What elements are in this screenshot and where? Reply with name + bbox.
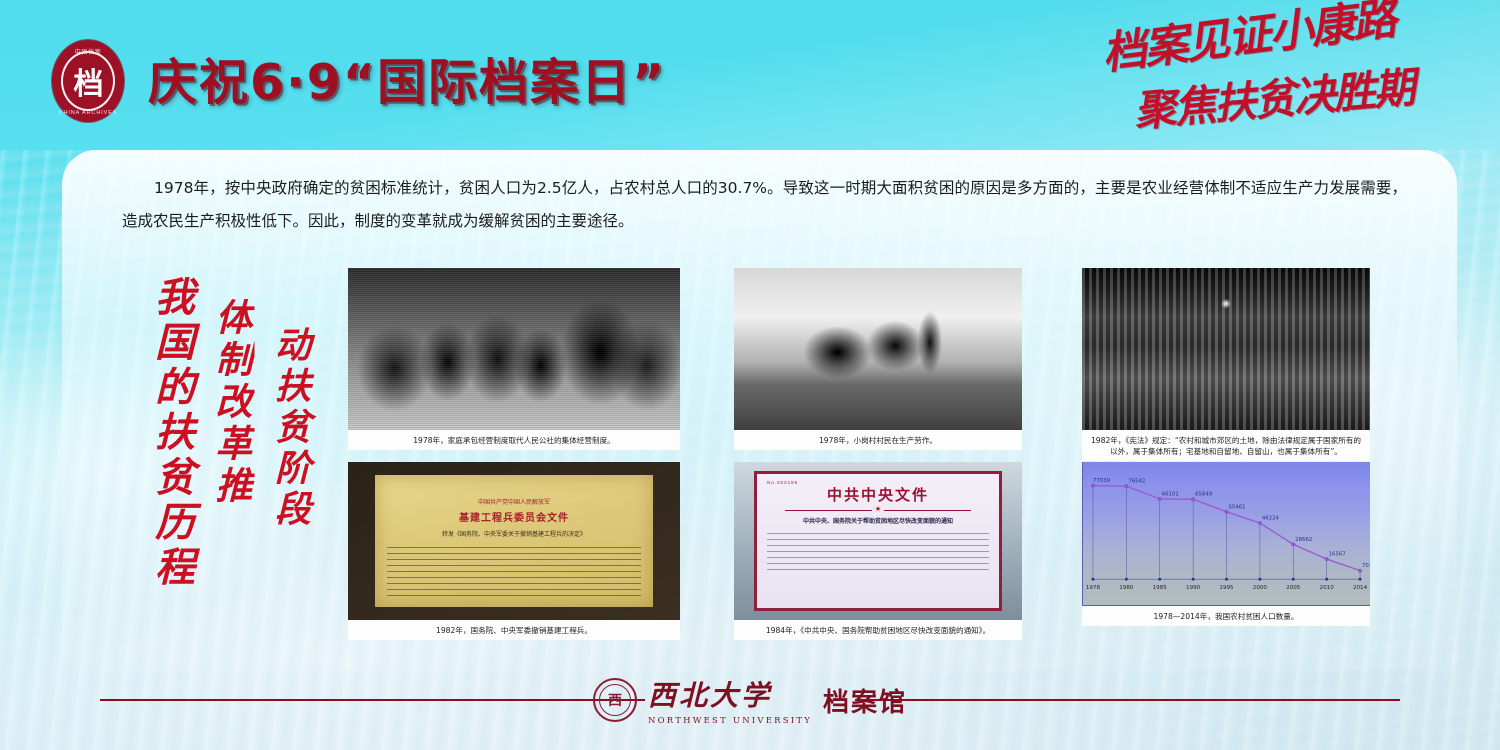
seal-glyph: 西: [593, 678, 637, 722]
emblem-arc-bottom-text: CHINA ARCHIVES: [52, 110, 124, 116]
title-underline: [60, 125, 760, 128]
university-name-block: 西北大学 NORTHWEST UNIVERSITY: [648, 674, 812, 726]
svg-text:1985: 1985: [1153, 585, 1168, 591]
svg-text:66101: 66101: [1162, 491, 1179, 497]
svg-text:28662: 28662: [1295, 537, 1312, 543]
university-name-cn: 西北大学: [648, 674, 812, 714]
svg-text:1990: 1990: [1186, 585, 1201, 591]
photo-caption: 1978年，家庭承包经营制度取代人民公社的集体经营制度。: [348, 430, 680, 450]
svg-text:16567: 16567: [1329, 552, 1346, 558]
photo-card[interactable]: 1982年，《宪法》规定：“农村和城市郊区的土地，除由法律规定属于国家所有的以外…: [1082, 268, 1370, 461]
department-name: 档案馆: [823, 682, 907, 719]
document-line-1: 中国共产党中国人民解放军: [387, 497, 642, 506]
document-body-lines: [767, 533, 989, 575]
photo-cpc-central-document: No 000185 中共中央文件 中共中央、国务院关于帮助贫困地区尽快改变面貌的…: [734, 462, 1022, 620]
svg-text:55461: 55461: [1228, 504, 1245, 510]
calligraphy-slogan: 档案见证小康路 聚焦扶贫决胜期: [1082, 12, 1482, 147]
document-sheet: No 000185 中共中央文件 中共中央、国务院关于帮助贫困地区尽快改变面貌的…: [754, 471, 1002, 610]
footer-brand: 西 西北大学 NORTHWEST UNIVERSITY 档案馆: [593, 674, 907, 726]
photo-caption: 1978年，小岗村村民在生产劳作。: [734, 430, 1022, 450]
content-panel: 1978年，按中央政府确定的贫困标准统计，贫困人口为2.5亿人，占农村总人口的3…: [62, 150, 1457, 670]
photo-card[interactable]: No 000185 中共中央文件 中共中央、国务院关于帮助贫困地区尽快改变面貌的…: [734, 462, 1022, 640]
document-sheet: 中国共产党中国人民解放军 基建工程兵委员会文件 转发《国务院、中央军委关于撤销基…: [375, 475, 654, 608]
photo-caption: 1982年，《宪法》规定：“农村和城市郊区的土地，除由法律规定属于国家所有的以外…: [1082, 430, 1370, 461]
poster-header: 中国档案 档 CHINA ARCHIVES 庆祝6·9“国际档案日” 档案见证小…: [0, 0, 1500, 148]
svg-text:7017: 7017: [1362, 563, 1370, 569]
footer-rule-right: [855, 699, 1400, 701]
photo-card[interactable]: 1978年，家庭承包经营制度取代人民公社的集体经营制度。: [348, 268, 680, 450]
photo-caption: 1984年，《中共中央、国务院帮助贫困地区尽快改变面貌的通知》。: [734, 620, 1022, 640]
svg-text:46224: 46224: [1262, 516, 1280, 522]
university-name-en: NORTHWEST UNIVERSITY: [648, 716, 812, 726]
document-body-lines: [387, 547, 642, 599]
photo-xiaogang-village-farming: [734, 268, 1022, 430]
china-archives-emblem-icon: 中国档案 档 CHINA ARCHIVES: [52, 40, 124, 122]
svg-text:77039: 77039: [1093, 478, 1111, 484]
chart-card[interactable]: 7703976542661016584955461462242866216567…: [1082, 462, 1370, 626]
svg-text:1980: 1980: [1119, 585, 1134, 591]
emblem-arc-top-text: 中国档案: [52, 47, 124, 56]
vertical-calligraphy-col-3: 动扶贫阶段: [264, 326, 316, 531]
svg-text:1995: 1995: [1219, 585, 1234, 591]
intro-paragraph: 1978年，按中央政府确定的贫困标准统计，贫困人口为2.5亿人，占农村总人口的3…: [122, 172, 1407, 238]
svg-text:2014: 2014: [1353, 585, 1368, 591]
document-header: 中共中央文件: [767, 484, 989, 505]
svg-text:1978: 1978: [1086, 585, 1101, 591]
photo-villagers-contract: [348, 268, 680, 430]
poster-footer: 西 西北大学 NORTHWEST UNIVERSITY 档案馆: [0, 668, 1500, 750]
chart-caption: 1978—2014年，我国农村贫困人口数量。: [1082, 606, 1370, 626]
document-subject: 中共中央、国务院关于帮助贫困地区尽快改变面貌的通知: [767, 518, 989, 527]
svg-text:65849: 65849: [1195, 492, 1213, 498]
svg-text:2010: 2010: [1320, 585, 1335, 591]
emblem-glyph: 档: [52, 59, 124, 103]
document-line-3: 转发《国务院、中央军委关于撤销基建工程兵的决定》: [387, 531, 642, 540]
footer-rule-left: [100, 699, 645, 701]
chart-rural-poverty-population: 7703976542661016584955461462242866216567…: [1082, 462, 1370, 606]
poverty-line-chart: 7703976542661016584955461462242866216567…: [1083, 462, 1370, 605]
photo-national-congress-hall: [1082, 268, 1370, 430]
page-title: 庆祝6·9“国际档案日”: [148, 43, 666, 114]
photo-engineering-corps-document: 中国共产党中国人民解放军 基建工程兵委员会文件 转发《国务院、中央军委关于撤销基…: [348, 462, 680, 620]
vertical-calligraphy-col-1: 我国的扶贫历程: [142, 276, 200, 591]
northwest-university-seal-icon: 西: [593, 678, 637, 722]
document-line-2: 基建工程兵委员会文件: [387, 509, 642, 524]
svg-text:76542: 76542: [1128, 479, 1145, 485]
document-star-rule: [785, 510, 971, 511]
vertical-calligraphy-col-2: 体制改革推: [204, 298, 258, 508]
photo-caption: 1982年，国务院、中央军委撤销基建工程兵。: [348, 620, 680, 640]
svg-text:2005: 2005: [1286, 585, 1301, 591]
vertical-calligraphy-block: 我国的扶贫历程 体制改革推 动扶贫阶段: [142, 268, 357, 663]
svg-text:2000: 2000: [1253, 585, 1268, 591]
poster-root: 中国档案 档 CHINA ARCHIVES 庆祝6·9“国际档案日” 档案见证小…: [0, 0, 1500, 750]
photo-card[interactable]: 1978年，小岗村村民在生产劳作。: [734, 268, 1022, 450]
photo-card[interactable]: 中国共产党中国人民解放军 基建工程兵委员会文件 转发《国务院、中央军委关于撤销基…: [348, 462, 680, 640]
